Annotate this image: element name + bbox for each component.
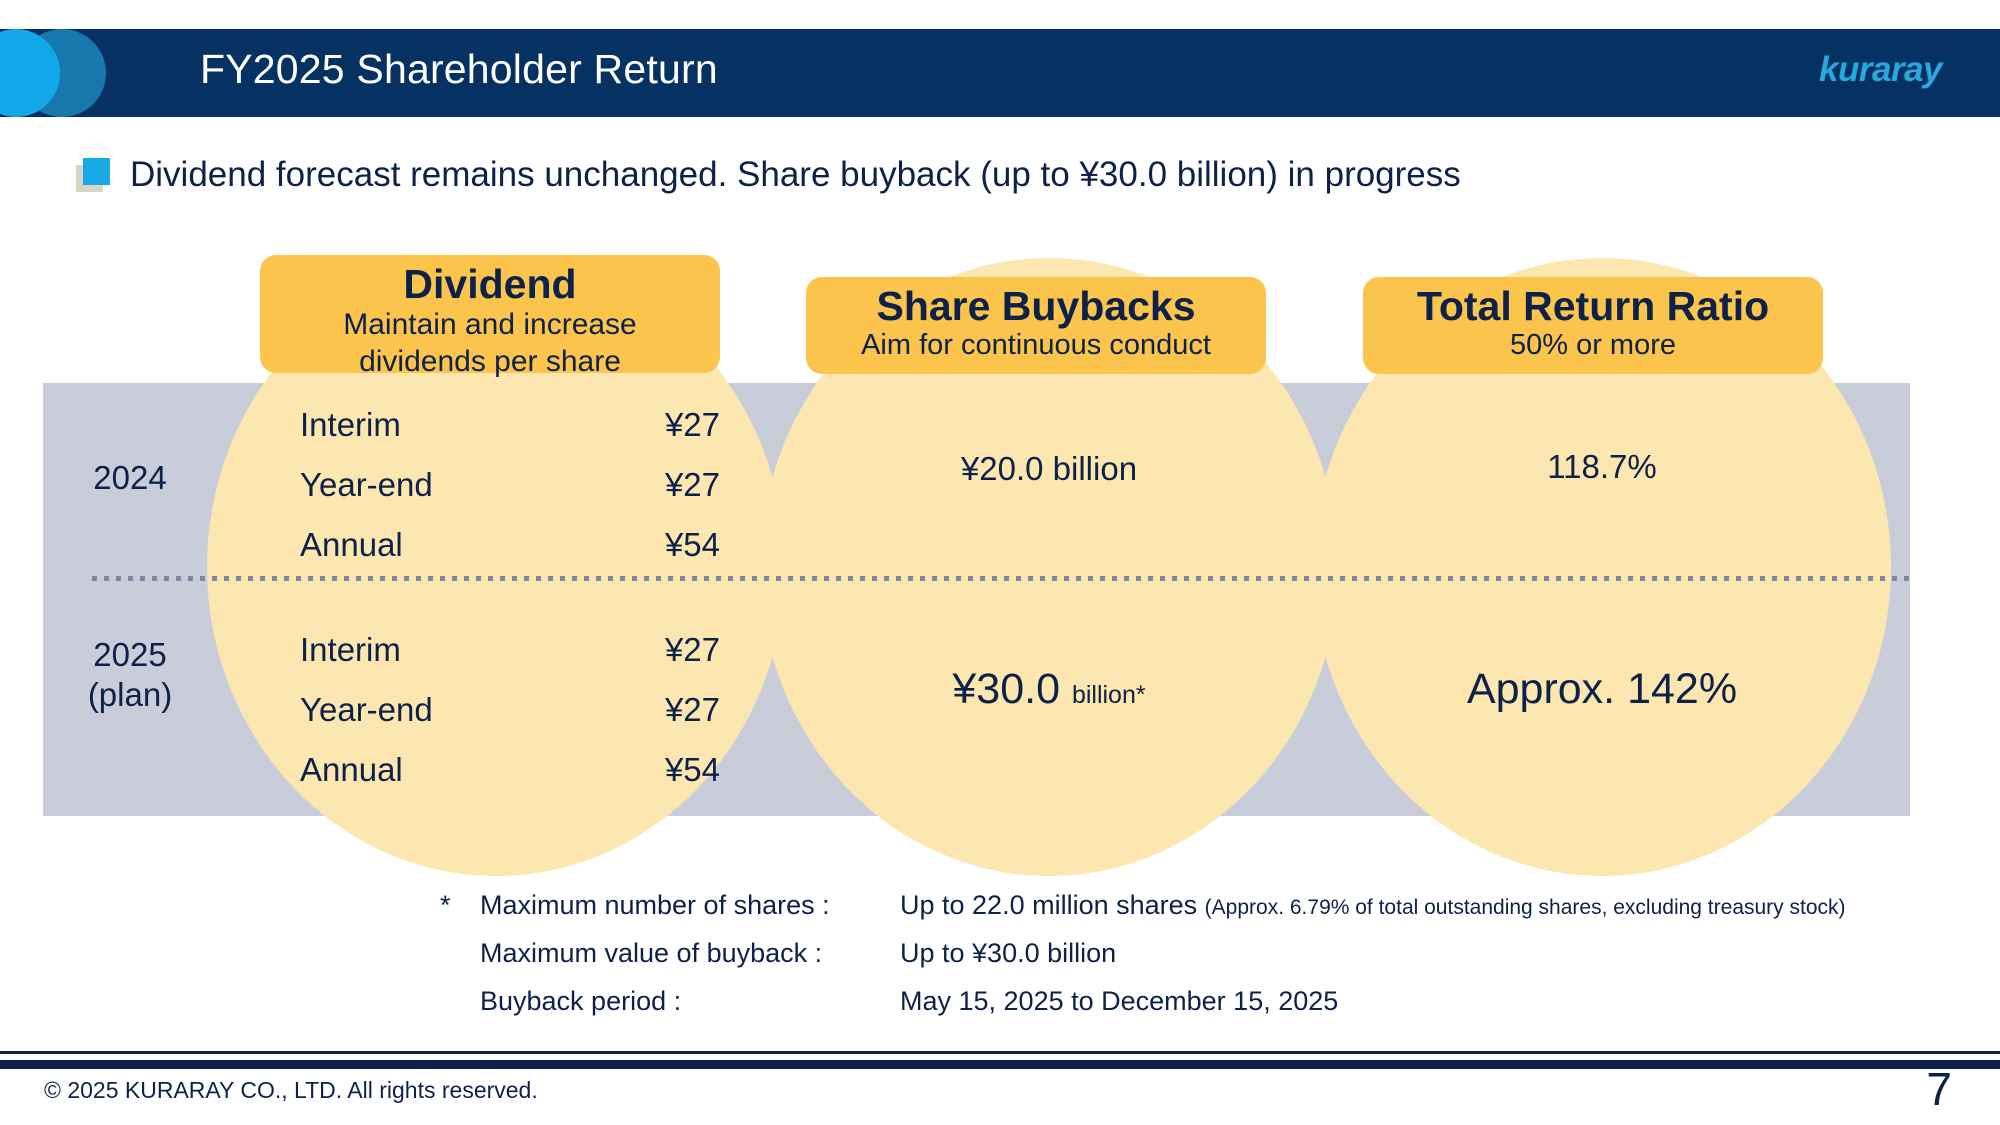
row-separator — [92, 576, 1913, 581]
footnote-value: Up to ¥30.0 billion — [900, 938, 1116, 969]
table-row: Interim ¥27 — [300, 620, 720, 680]
dividend-value: ¥54 — [630, 526, 720, 564]
dividend-label: Year-end — [300, 691, 433, 729]
column-header-ratio-title: Total Return Ratio — [1363, 285, 1823, 328]
dividend-label: Annual — [300, 526, 403, 564]
square-bullet-icon — [76, 158, 110, 192]
headline-bullet-row: Dividend forecast remains unchanged. Sha… — [76, 155, 1461, 195]
buyback-value-2025: ¥30.0 billion* — [760, 665, 1338, 714]
column-header-ratio: Total Return Ratio 50% or more — [1363, 277, 1823, 374]
dividend-value: ¥27 — [630, 631, 720, 669]
buyback-value-2025-unit: billion* — [1072, 681, 1146, 709]
column-header-buybacks: Share Buybacks Aim for continuous conduc… — [806, 277, 1266, 374]
column-header-ratio-subtitle: 50% or more — [1363, 329, 1823, 363]
row-label-2024: 2024 — [45, 458, 215, 498]
table-row: Annual ¥54 — [300, 515, 720, 575]
footnote-value: Up to 22.0 million shares (Approx. 6.79%… — [900, 890, 1846, 921]
dividend-value: ¥27 — [630, 406, 720, 444]
dividend-value: ¥54 — [630, 751, 720, 789]
footnote-label: Maximum number of shares : — [480, 890, 900, 921]
column-header-dividend-subtitle-1: Maintain and increase — [260, 308, 720, 343]
ratio-value-2024: 118.7% — [1313, 448, 1891, 486]
row-label-2025: 2025 (plan) — [45, 635, 215, 714]
table-row: Interim ¥27 — [300, 395, 720, 455]
table-row: Year-end ¥27 — [300, 680, 720, 740]
row-label-2025-line2: (plan) — [45, 675, 215, 715]
dividend-table-2025: Interim ¥27 Year-end ¥27 Annual ¥54 — [300, 620, 720, 800]
row-label-2024-line1: 2024 — [45, 458, 215, 498]
table-row: Year-end ¥27 — [300, 455, 720, 515]
dividend-value: ¥27 — [630, 466, 720, 504]
footer-rule-thin — [0, 1051, 2000, 1054]
footer-copyright: © 2025 KURARAY CO., LTD. All rights rese… — [44, 1077, 538, 1104]
dividend-label: Interim — [300, 406, 401, 444]
footnote-row: Maximum value of buyback : Up to ¥30.0 b… — [440, 938, 1846, 986]
footnote-label: Buyback period : — [480, 986, 900, 1017]
buyback-value-2024: ¥20.0 billion — [760, 450, 1338, 488]
dividend-label: Year-end — [300, 466, 433, 504]
dividend-label: Interim — [300, 631, 401, 669]
footnotes-block: * Maximum number of shares : Up to 22.0 … — [440, 890, 1846, 1034]
headline-text: Dividend forecast remains unchanged. Sha… — [130, 155, 1461, 195]
column-header-dividend-title: Dividend — [260, 263, 720, 306]
footnote-row: * Maximum number of shares : Up to 22.0 … — [440, 890, 1846, 938]
buyback-value-2025-main: ¥30.0 — [952, 665, 1060, 713]
dividend-table-2024: Interim ¥27 Year-end ¥27 Annual ¥54 — [300, 395, 720, 575]
dividend-label: Annual — [300, 751, 403, 789]
footnote-row: Buyback period : May 15, 2025 to Decembe… — [440, 986, 1846, 1034]
kuraray-logo: kuraray — [1819, 50, 1942, 90]
footnote-value: May 15, 2025 to December 15, 2025 — [900, 986, 1338, 1017]
column-header-buybacks-title: Share Buybacks — [806, 285, 1266, 328]
column-header-dividend: Dividend Maintain and increase dividends… — [260, 255, 720, 373]
footnote-value-main: Up to 22.0 million shares — [900, 890, 1197, 920]
column-header-buybacks-subtitle: Aim for continuous conduct — [806, 329, 1266, 363]
page-number: 7 — [1926, 1062, 1952, 1116]
footer-rule-thick — [0, 1060, 2000, 1069]
ratio-value-2025: Approx. 142% — [1313, 665, 1891, 714]
footnote-asterisk: * — [440, 890, 480, 921]
page-title: FY2025 Shareholder Return — [200, 46, 718, 93]
table-row: Annual ¥54 — [300, 740, 720, 800]
footnote-label: Maximum value of buyback : — [480, 938, 900, 969]
row-label-2025-line1: 2025 — [45, 635, 215, 675]
dividend-value: ¥27 — [630, 691, 720, 729]
column-header-dividend-subtitle-2: dividends per share — [260, 345, 720, 380]
footnote-value-note: (Approx. 6.79% of total outstanding shar… — [1205, 896, 1846, 919]
